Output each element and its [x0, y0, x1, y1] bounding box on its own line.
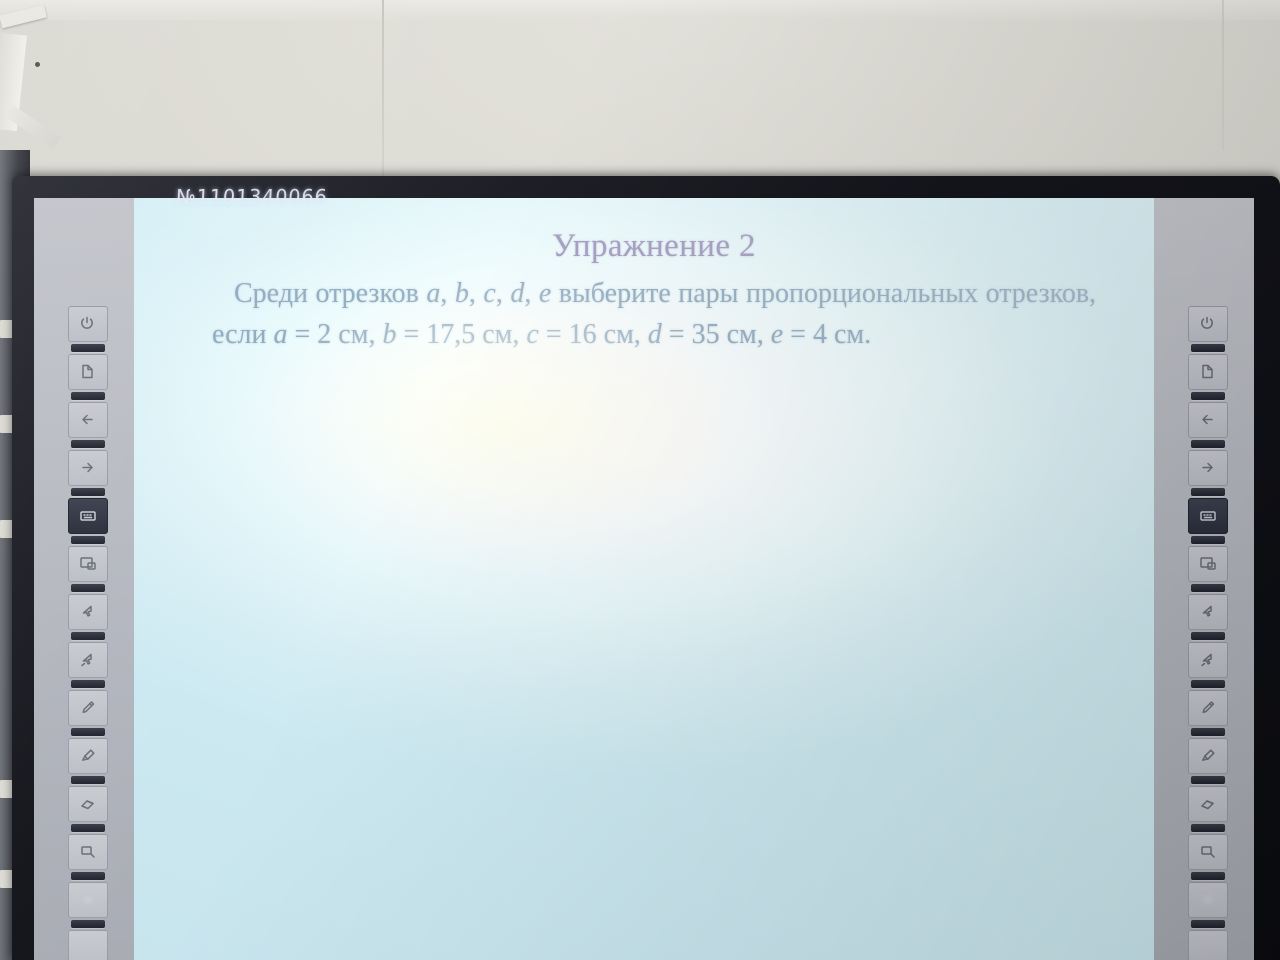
- math-variable: b: [382, 319, 396, 350]
- cursor-arrow-icon: [1198, 602, 1218, 622]
- tool-separator: [71, 776, 105, 784]
- left-tool-panel: [34, 198, 134, 960]
- page-icon: [78, 362, 98, 382]
- wall-seam-left: [382, 0, 384, 182]
- left-tool-eraser-icon[interactable]: [68, 786, 108, 822]
- right-tool-power-icon[interactable]: [1188, 306, 1228, 342]
- math-variable: e: [539, 278, 551, 309]
- screen-capture-icon: [78, 554, 98, 574]
- left-toolbar[interactable]: [68, 306, 108, 960]
- page-icon: [1198, 362, 1218, 382]
- right-tool-cursor-select-icon[interactable]: [1188, 642, 1228, 678]
- right-tool-screen-capture-icon[interactable]: [1188, 546, 1228, 582]
- tool-separator: [1191, 392, 1225, 400]
- tool-separator: [71, 488, 105, 496]
- marker-icon: [78, 746, 98, 766]
- keyboard-icon: [1198, 506, 1218, 526]
- tool-separator: [71, 920, 105, 928]
- power-icon: [1198, 314, 1218, 334]
- tool-separator: [1191, 920, 1225, 928]
- cursor-select-icon: [1198, 650, 1218, 670]
- slide-line-3: 17,5 см, c = 16 см, d = 35 см, e = 4 см.: [426, 319, 871, 350]
- bezel-serial-label: №1101340066: [175, 185, 328, 208]
- whiteboard-frame: Упражнение 2 Среди отрезков a, b, c, d, …: [12, 176, 1280, 960]
- slide-text-block: Упражнение 2 Среди отрезков a, b, c, d, …: [212, 228, 1096, 356]
- right-tool-panel: [1154, 198, 1254, 960]
- left-tool-undo-arrow-icon[interactable]: [68, 402, 108, 438]
- slide-text-run: 17,5 см,: [426, 319, 526, 350]
- tool-separator: [1191, 440, 1225, 448]
- slide-text-run: ,: [496, 278, 511, 309]
- eraser-icon: [1198, 794, 1218, 814]
- keyboard-icon: [78, 506, 98, 526]
- tool-separator: [71, 536, 105, 544]
- right-tool-redo-arrow-icon[interactable]: [1188, 450, 1228, 486]
- left-tool-screen-capture-icon[interactable]: [68, 546, 108, 582]
- slide-text-run: ,: [469, 278, 484, 309]
- power-icon: [78, 314, 98, 334]
- slide-body: Среди отрезков a, b, c, d, e выберите па…: [212, 273, 1096, 356]
- slide-title: Упражнение 2: [212, 228, 1096, 265]
- wall-top-band: [0, 0, 1280, 20]
- whiteboard-surface: Упражнение 2 Среди отрезков a, b, c, d, …: [34, 198, 1254, 960]
- tool-separator: [71, 392, 105, 400]
- pen-icon: [78, 698, 98, 718]
- screen-capture-icon: [1198, 554, 1218, 574]
- tool-separator: [71, 872, 105, 880]
- tool-separator: [1191, 728, 1225, 736]
- slide-line-1: Среди отрезков a, b, c, d, e выберите па…: [234, 278, 738, 309]
- shape-icon: [1198, 842, 1218, 862]
- left-tool-power-icon[interactable]: [68, 306, 108, 342]
- left-tool-blank-icon[interactable]: [68, 930, 108, 960]
- math-variable: c: [526, 319, 538, 350]
- slide-text-run: = 35 см,: [662, 319, 771, 350]
- tool-separator: [1191, 344, 1225, 352]
- left-tool-marker-icon[interactable]: [68, 738, 108, 774]
- tool-separator: [71, 632, 105, 640]
- left-tool-spotlight-icon[interactable]: [68, 882, 108, 918]
- tool-separator: [1191, 584, 1225, 592]
- right-tool-spotlight-icon[interactable]: [1188, 882, 1228, 918]
- slide-text-run: =: [396, 319, 419, 350]
- whiteboard-photo-scene: Упражнение 2 Среди отрезков a, b, c, d, …: [0, 0, 1280, 960]
- left-tool-pen-icon[interactable]: [68, 690, 108, 726]
- slide-text-run: = 2 см,: [288, 319, 383, 350]
- projected-slide: Упражнение 2 Среди отрезков a, b, c, d, …: [134, 198, 1154, 960]
- tool-separator: [1191, 488, 1225, 496]
- tool-separator: [1191, 776, 1225, 784]
- right-tool-undo-arrow-icon[interactable]: [1188, 402, 1228, 438]
- tool-separator: [1191, 536, 1225, 544]
- left-tool-cursor-select-icon[interactable]: [68, 642, 108, 678]
- pen-icon: [1198, 698, 1218, 718]
- cursor-arrow-icon: [78, 602, 98, 622]
- tool-separator: [1191, 824, 1225, 832]
- blank-icon: [78, 938, 98, 958]
- spotlight-icon: [1198, 890, 1218, 910]
- left-tool-redo-arrow-icon[interactable]: [68, 450, 108, 486]
- blank-icon: [1198, 938, 1218, 958]
- tool-separator: [71, 344, 105, 352]
- left-tool-page-icon[interactable]: [68, 354, 108, 390]
- eraser-icon: [78, 794, 98, 814]
- cursor-select-icon: [78, 650, 98, 670]
- wall-seam-right: [1222, 0, 1224, 150]
- math-variable: d: [648, 319, 662, 350]
- tool-separator: [71, 440, 105, 448]
- right-tool-page-icon[interactable]: [1188, 354, 1228, 390]
- slide-text-run: ,: [524, 278, 539, 309]
- undo-arrow-icon: [1198, 410, 1218, 430]
- right-tool-pen-icon[interactable]: [1188, 690, 1228, 726]
- slide-text-run: Среди отрезков: [234, 278, 426, 309]
- shape-icon: [78, 842, 98, 862]
- math-variable: e: [771, 319, 783, 350]
- tool-separator: [71, 824, 105, 832]
- slide-text-run: = 16 см,: [539, 319, 648, 350]
- tool-separator: [71, 728, 105, 736]
- undo-arrow-icon: [78, 410, 98, 430]
- redo-arrow-icon: [1198, 458, 1218, 478]
- math-variable: a: [426, 278, 440, 309]
- tool-separator: [1191, 872, 1225, 880]
- tool-separator: [1191, 680, 1225, 688]
- left-tool-shape-icon[interactable]: [68, 834, 108, 870]
- right-tool-cursor-arrow-icon[interactable]: [1188, 594, 1228, 630]
- tool-separator: [71, 584, 105, 592]
- right-tool-keyboard-icon[interactable]: [1188, 498, 1228, 534]
- math-variable: b: [455, 278, 469, 309]
- math-variable: c: [483, 278, 495, 309]
- math-variable: d: [510, 278, 524, 309]
- redo-arrow-icon: [78, 458, 98, 478]
- math-variable: a: [274, 319, 288, 350]
- spotlight-icon: [78, 890, 98, 910]
- bracket-screw: [35, 62, 40, 67]
- right-tool-eraser-icon[interactable]: [1188, 786, 1228, 822]
- right-tool-marker-icon[interactable]: [1188, 738, 1228, 774]
- left-tool-cursor-arrow-icon[interactable]: [68, 594, 108, 630]
- marker-icon: [1198, 746, 1218, 766]
- slide-text-run: = 4 см.: [783, 319, 871, 350]
- tool-separator: [1191, 632, 1225, 640]
- left-tool-keyboard-icon[interactable]: [68, 498, 108, 534]
- slide-text-run: выберите пары: [551, 278, 738, 309]
- right-toolbar[interactable]: [1188, 306, 1228, 960]
- slide-text-run: ,: [440, 278, 455, 309]
- right-tool-shape-icon[interactable]: [1188, 834, 1228, 870]
- right-tool-blank-icon[interactable]: [1188, 930, 1228, 960]
- tool-separator: [71, 680, 105, 688]
